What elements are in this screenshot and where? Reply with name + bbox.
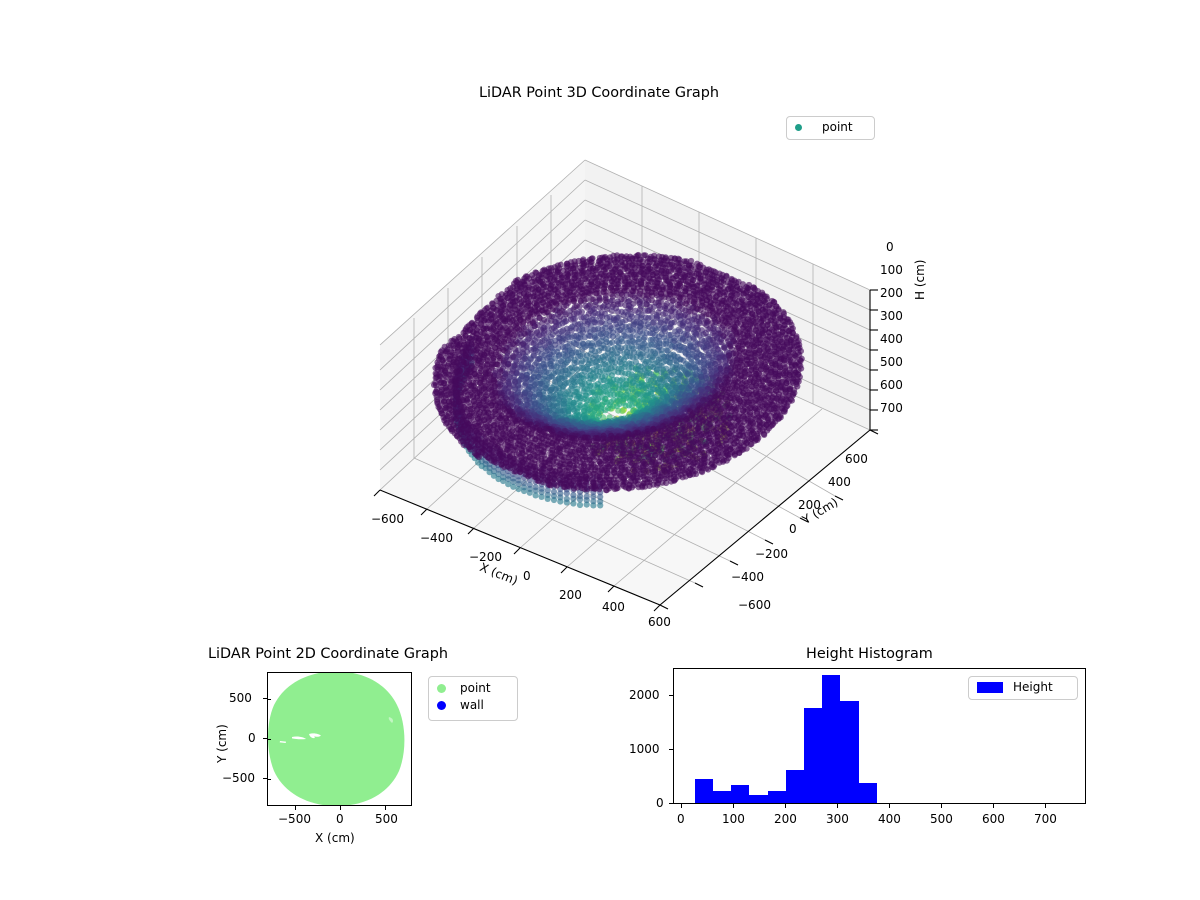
y2d-tick-outer-500 <box>263 698 267 699</box>
panel-3d-title: LiDAR Point 3D Coordinate Graph <box>479 85 719 101</box>
legend-3d-item-point[interactable]: point <box>795 120 866 134</box>
xhist-tickmark-500 <box>941 804 942 808</box>
histogram-bar <box>713 791 731 803</box>
yhist-tickmark-2000 <box>669 695 673 696</box>
z3d-tick-100: 100 <box>880 263 903 277</box>
x2d-axis-label: X (cm) <box>315 831 355 845</box>
legend-2d-item-point[interactable]: point <box>437 681 509 695</box>
x2d-tick-outer--500 <box>295 806 296 810</box>
legend-hist-label-height: Height <box>1013 680 1053 694</box>
z3d-tick-0: 0 <box>886 240 894 254</box>
x3d-tick-400: 400 <box>602 600 625 614</box>
y3d-tick--400: −400 <box>731 570 764 584</box>
x2d-tick-0: 0 <box>336 812 344 826</box>
y2d-tick--500: −500 <box>222 771 255 785</box>
histogram-bar <box>695 779 713 803</box>
xhist-tick-500: 500 <box>930 812 953 826</box>
y2d-tickmark-0 <box>268 739 271 740</box>
xhist-tick-600: 600 <box>982 812 1005 826</box>
wall-marker-icon <box>437 701 446 710</box>
y3d-tick-600: 600 <box>845 452 868 466</box>
point-marker-icon <box>437 684 446 693</box>
xhist-tick-100: 100 <box>722 812 745 826</box>
histogram-bar <box>822 675 840 803</box>
x3d-tick-0: 0 <box>523 569 531 583</box>
x2d-tick--500: −500 <box>278 812 311 826</box>
xhist-tickmark-400 <box>889 804 890 808</box>
y2d-tick-outer--500 <box>263 778 267 779</box>
y2d-tick-0: 0 <box>248 731 256 745</box>
lidar-2d-axes[interactable] <box>267 672 412 806</box>
xhist-tick-200: 200 <box>774 812 797 826</box>
z3d-tick-700: 700 <box>880 401 903 415</box>
x3d-tick--600: −600 <box>371 512 404 526</box>
z3d-tick-600: 600 <box>880 378 903 392</box>
z3d-axis-label: H (cm) <box>913 260 927 301</box>
xhist-tickmark-0 <box>681 804 682 808</box>
xhist-tick-300: 300 <box>826 812 849 826</box>
panel-2d-title: LiDAR Point 2D Coordinate Graph <box>208 646 448 662</box>
height-patch-icon <box>977 682 1003 693</box>
xhist-tick-0: 0 <box>677 812 685 826</box>
xhist-tickmark-600 <box>993 804 994 808</box>
z3d-tick-300: 300 <box>880 309 903 323</box>
z3d-tick-500: 500 <box>880 355 903 369</box>
y2d-tick-outer-0 <box>263 738 267 739</box>
histogram-bar <box>804 708 822 803</box>
yhist-tickmark-0 <box>669 803 673 804</box>
xhist-tickmark-100 <box>733 804 734 808</box>
y3d-tick--200: −200 <box>755 547 788 561</box>
y3d-tick-0: 0 <box>789 522 797 536</box>
y2d-tick-500: 500 <box>229 691 252 705</box>
y2d-tickmark--500 <box>268 779 271 780</box>
y3d-tick-400: 400 <box>828 475 851 489</box>
xhist-tick-400: 400 <box>878 812 901 826</box>
y2d-axis-label: Y (cm) <box>215 724 229 763</box>
lidar-3d-axes[interactable] <box>330 140 890 620</box>
x3d-tick-600: 600 <box>648 615 671 629</box>
y3d-tick--600: −600 <box>738 598 771 612</box>
x2d-tick-outer-500 <box>385 806 386 810</box>
xhist-tickmark-300 <box>837 804 838 808</box>
histogram-bar <box>786 770 804 803</box>
matplotlib-figure: LiDAR Point 3D Coordinate Graph <box>0 0 1200 900</box>
legend-2d-label-point: point <box>460 681 491 695</box>
xhist-tickmark-700 <box>1045 804 1046 808</box>
xhist-tickmark-200 <box>785 804 786 808</box>
histogram-bar <box>859 783 877 803</box>
x2d-tick-500: 500 <box>375 812 398 826</box>
histogram-bar <box>840 701 858 803</box>
y2d-tickmark-500 <box>268 699 271 700</box>
x3d-tick-200: 200 <box>559 588 582 602</box>
xhist-tick-700: 700 <box>1034 812 1057 826</box>
yhist-tick-1000: 1000 <box>629 742 660 756</box>
lidar-2d-canvas <box>268 673 411 805</box>
legend-3d[interactable]: point <box>786 116 875 140</box>
x2d-tick-outer-0 <box>340 806 341 810</box>
yhist-tickmark-1000 <box>669 749 673 750</box>
x3d-tick--400: −400 <box>420 531 453 545</box>
legend-hist[interactable]: Height <box>968 676 1078 700</box>
z3d-tick-400: 400 <box>880 332 903 346</box>
legend-hist-item-height[interactable]: Height <box>977 680 1069 694</box>
legend-2d[interactable]: point wall <box>428 676 518 721</box>
panel-hist-title: Height Histogram <box>806 646 933 662</box>
lidar-3d-canvas <box>330 140 890 620</box>
point-marker-icon <box>795 124 802 131</box>
histogram-bar <box>749 795 767 803</box>
legend-2d-item-wall[interactable]: wall <box>437 698 509 712</box>
legend-3d-label-point: point <box>822 120 853 134</box>
histogram-bar <box>768 791 786 803</box>
legend-2d-label-wall: wall <box>460 698 484 712</box>
yhist-tick-2000: 2000 <box>629 688 660 702</box>
histogram-bar <box>731 785 749 803</box>
z3d-tick-200: 200 <box>880 286 903 300</box>
yhist-tick-0: 0 <box>656 796 664 810</box>
point-cloud-2d <box>268 673 404 805</box>
